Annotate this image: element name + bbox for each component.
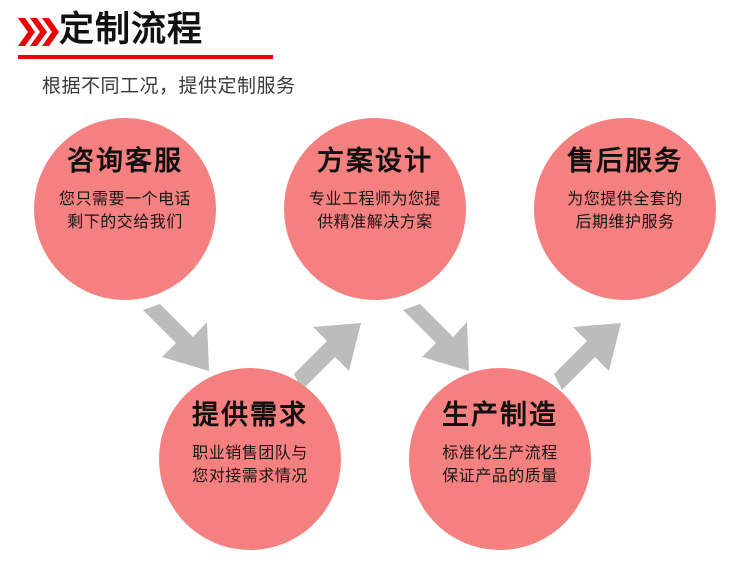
flow-node-description: 标准化生产流程 保证产品的质量 xyxy=(442,442,558,488)
flow-node-title: 生产制造 xyxy=(442,398,558,432)
flow-node-desc-line: 供精准解决方案 xyxy=(309,211,441,234)
flow-node-desc-line: 剩下的交给我们 xyxy=(59,211,191,234)
flow-node-step-5[interactable]: 生产制造 标准化生产流程 保证产品的质量 xyxy=(409,368,591,550)
flow-node-title: 方案设计 xyxy=(317,144,433,178)
flow-node-description: 您只需要一个电话 剩下的交给我们 xyxy=(59,188,191,234)
flow-node-step-3[interactable]: 售后服务 为您提供全套的 后期维护服务 xyxy=(534,118,716,300)
flow-node-step-1[interactable]: 咨询客服 您只需要一个电话 剩下的交给我们 xyxy=(34,118,216,300)
flow-node-desc-line: 您只需要一个电话 xyxy=(59,188,191,211)
arrow-up-right-2 xyxy=(554,323,621,390)
flow-node-description: 为您提供全套的 后期维护服务 xyxy=(567,188,683,234)
flow-node-step-4[interactable]: 提供需求 职业销售团队与 您对接需求情况 xyxy=(159,368,341,550)
flow-node-desc-line: 保证产品的质量 xyxy=(442,465,558,488)
flow-node-desc-line: 后期维护服务 xyxy=(567,211,683,234)
flow-node-description: 专业工程师为您提 供精准解决方案 xyxy=(309,188,441,234)
flow-node-step-2[interactable]: 方案设计 专业工程师为您提 供精准解决方案 xyxy=(284,118,466,300)
flow-node-desc-line: 为您提供全套的 xyxy=(567,188,683,211)
arrow-up-right-1 xyxy=(294,323,361,390)
flow-node-title: 提供需求 xyxy=(192,398,308,432)
flow-node-desc-line: 标准化生产流程 xyxy=(442,442,558,465)
process-flow-diagram: 咨询客服 您只需要一个电话 剩下的交给我们 方案设计 专业工程师为您提 供精准解… xyxy=(0,0,750,568)
arrow-down-right-2 xyxy=(403,304,469,371)
arrow-down-right-1 xyxy=(143,304,209,371)
flow-node-title: 咨询客服 xyxy=(67,144,183,178)
flow-node-desc-line: 您对接需求情况 xyxy=(192,465,308,488)
flow-node-desc-line: 专业工程师为您提 xyxy=(309,188,441,211)
flow-node-title: 售后服务 xyxy=(567,144,683,178)
flow-node-description: 职业销售团队与 您对接需求情况 xyxy=(192,442,308,488)
flow-node-desc-line: 职业销售团队与 xyxy=(192,442,308,465)
